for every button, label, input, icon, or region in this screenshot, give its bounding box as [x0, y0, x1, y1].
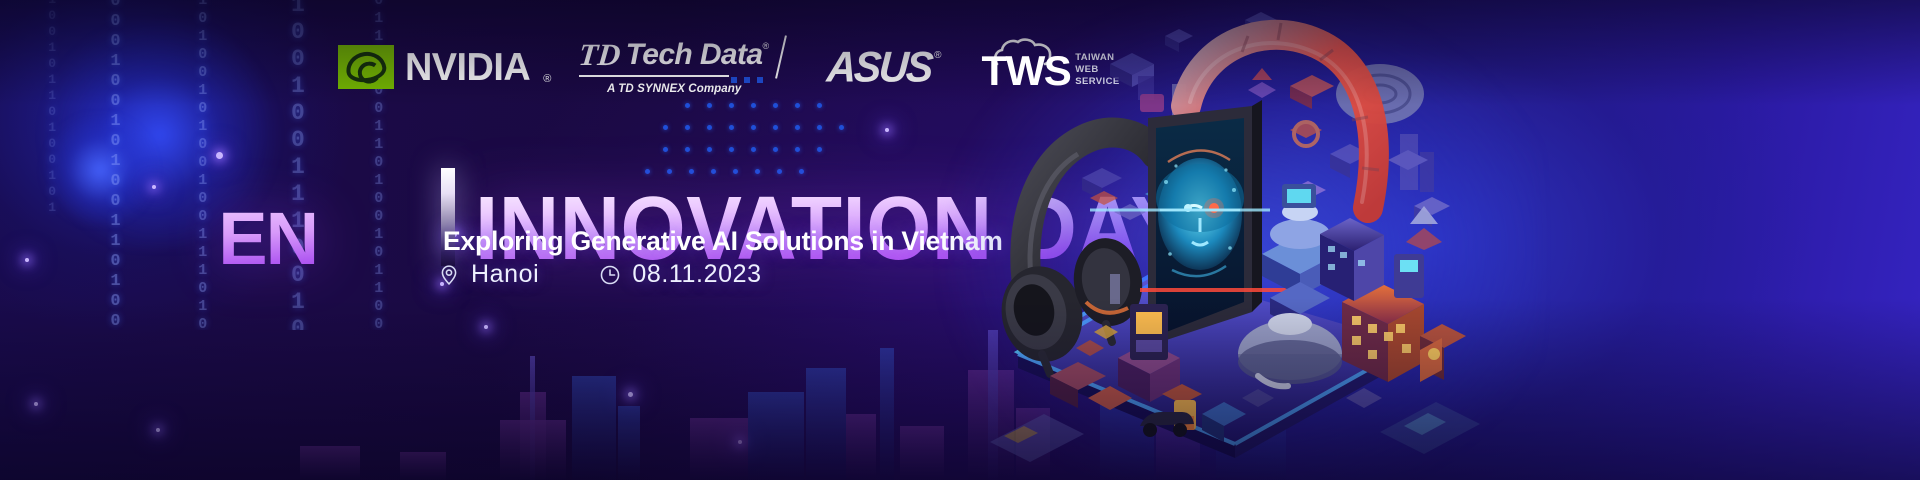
- banner-subtitle: Exploring Generative AI Solutions in Vie…: [443, 226, 1003, 257]
- nvidia-eye-icon: [338, 45, 394, 89]
- event-meta-row: Hanoi 08.11.2023: [438, 260, 762, 289]
- logo-nvidia[interactable]: NVIDIA ®: [338, 45, 551, 89]
- techdata-underline: [579, 75, 729, 77]
- meta-location-label: Hanoi: [471, 260, 539, 289]
- sparkle: [484, 325, 488, 329]
- techdata-wordmark: Tech Data: [626, 40, 763, 70]
- meta-item-location: Hanoi: [438, 260, 539, 289]
- logo-asus[interactable]: ASUS ®: [827, 47, 941, 88]
- tws-wordmark: TWS: [981, 50, 1070, 92]
- asus-wordmark: ASUS: [826, 45, 933, 88]
- binary-column: 10010110100101: [46, 0, 57, 112]
- nvidia-trademark: ®: [543, 73, 551, 85]
- nvidia-wordmark: NVIDIA: [405, 48, 530, 87]
- binary-column: 0001001010011010010: [108, 0, 122, 152]
- techdata-slash-accent: [775, 35, 787, 78]
- logo-tech-data[interactable]: TD Tech Data ® A TD SYNNEX Company: [579, 39, 769, 95]
- techdata-monogram: TD: [578, 39, 623, 70]
- genai-innovation-day-banner: 0001001010011010010 10100101001001110100…: [0, 0, 1920, 480]
- headline-gen-smallcaps: EN: [218, 209, 317, 270]
- partner-logo-row: NVIDIA ® TD Tech Data ® A TD SYNNEX Comp…: [338, 38, 1120, 96]
- sparkle: [885, 128, 889, 132]
- sparkle: [25, 258, 29, 262]
- techdata-trademark: ®: [763, 41, 770, 51]
- meta-item-date: 08.11.2023: [599, 260, 761, 289]
- headline-ai: AI: [316, 177, 426, 272]
- clock-icon: [599, 264, 621, 286]
- techdata-tagline: A TD SYNNEX Company: [607, 83, 741, 95]
- headline-gen-capital: G: [131, 177, 219, 272]
- meta-date-label: 08.11.2023: [632, 260, 761, 289]
- location-pin-icon: [438, 264, 460, 286]
- headline-genai: G EN AI: [132, 177, 425, 272]
- techdata-dot-accents: [731, 77, 763, 83]
